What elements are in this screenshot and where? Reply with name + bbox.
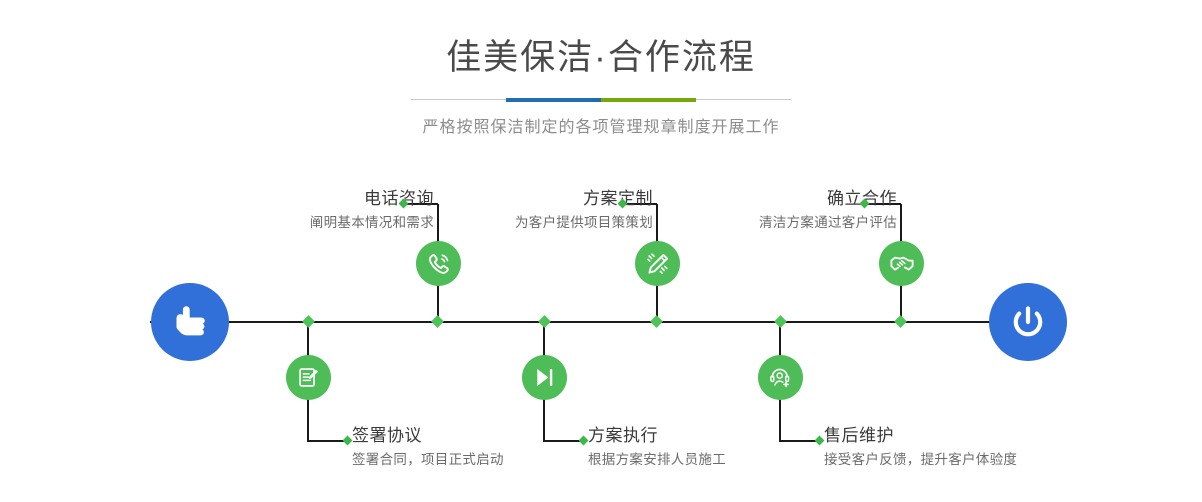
step-label-1: 电话咨询 阐明基本情况和需求 [310, 188, 434, 233]
step-label-3: 方案定制 为客户提供项目策策划 [515, 188, 653, 233]
axis-marker [302, 315, 315, 328]
timeline-start-node [151, 283, 229, 361]
step-label-5: 确立合作 清洁方案通过客户评估 [759, 188, 897, 233]
axis-marker [774, 315, 787, 328]
connector-horizontal [307, 440, 347, 442]
step-title: 电话咨询 [310, 188, 434, 210]
step-desc: 签署合同，项目正式启动 [352, 447, 504, 470]
phone-ring-icon [426, 251, 452, 277]
step-icon-6 [758, 355, 803, 400]
customer-service-add-icon [768, 365, 793, 390]
connector-marker [579, 436, 589, 446]
step-desc: 清洁方案通过客户评估 [759, 210, 897, 233]
pencil-edit-icon [645, 251, 671, 277]
axis-marker [431, 315, 444, 328]
step-label-2: 签署协议 签署合同，项目正式启动 [352, 425, 504, 470]
play-skip-icon [532, 365, 557, 390]
handshake-icon [889, 251, 915, 277]
timeline-axis [150, 321, 1050, 323]
step-desc: 阐明基本情况和需求 [310, 210, 434, 233]
timeline-end-node [989, 283, 1067, 361]
step-label-6: 售后维护 接受客户反馈，提升客户体验度 [824, 425, 1017, 470]
connector-marker [815, 436, 825, 446]
step-title: 签署协议 [352, 425, 504, 447]
step-icon-1 [416, 241, 461, 286]
step-desc: 接受客户反馈，提升客户体验度 [824, 447, 1017, 470]
power-icon [1006, 300, 1050, 344]
step-desc: 为客户提供项目策策划 [515, 210, 653, 233]
axis-marker [650, 315, 663, 328]
process-timeline: 电话咨询 阐明基本情况和需求 签署协议 签署合同，项目正式启动 [0, 0, 1202, 502]
pointing-hand-icon [167, 299, 213, 345]
step-icon-3 [635, 241, 680, 286]
connector-marker [343, 436, 353, 446]
step-desc: 根据方案安排人员施工 [588, 447, 726, 470]
axis-marker [894, 315, 907, 328]
step-title: 售后维护 [824, 425, 1017, 447]
connector-horizontal [779, 440, 819, 442]
sign-document-icon [296, 365, 321, 390]
step-icon-2 [286, 355, 331, 400]
step-title: 方案定制 [515, 188, 653, 210]
axis-marker [538, 315, 551, 328]
step-title: 确立合作 [759, 188, 897, 210]
step-label-4: 方案执行 根据方案安排人员施工 [588, 425, 726, 470]
step-icon-4 [522, 355, 567, 400]
step-icon-5 [879, 241, 924, 286]
connector-horizontal [543, 440, 583, 442]
step-title: 方案执行 [588, 425, 726, 447]
